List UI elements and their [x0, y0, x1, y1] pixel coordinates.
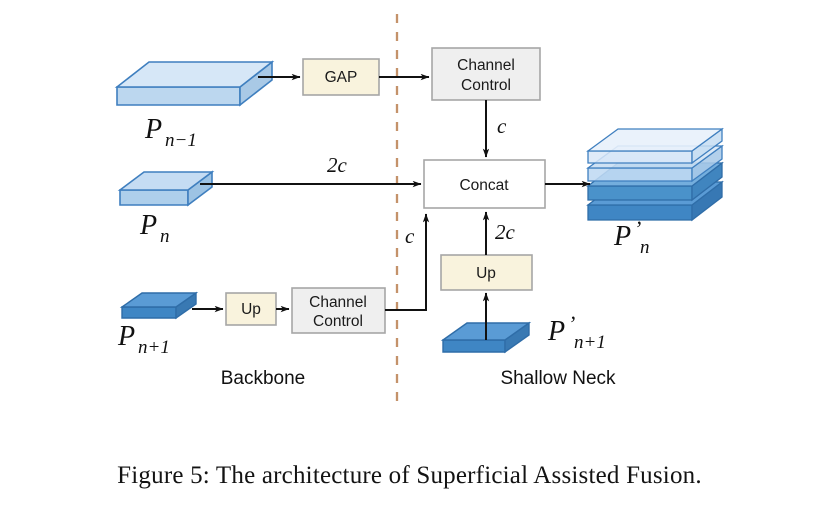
svg-text:n−1: n−1 — [165, 130, 197, 151]
svg-text:Control: Control — [313, 313, 363, 330]
svg-text:P: P — [547, 316, 565, 347]
edge-label-2c-up: 2c — [495, 220, 516, 244]
block-channel-control-bottom[interactable]: Channel Control — [292, 288, 385, 333]
feature-map-p-n-minus-1 — [117, 62, 272, 105]
svg-text:Channel: Channel — [309, 294, 367, 311]
architecture-diagram: P n−1 P n P n+1 GAP — [0, 0, 819, 514]
edge-label-2c-pn: 2c — [327, 153, 348, 177]
svg-text:P: P — [144, 114, 162, 145]
feature-map-p-prime-n-plus-1-label: P ’ n+1 — [547, 311, 606, 353]
svg-text:n+1: n+1 — [138, 337, 170, 358]
feature-map-p-n-label: P n — [139, 210, 170, 247]
block-gap[interactable]: GAP — [303, 59, 379, 95]
figure-caption: Figure 5: The architecture of Superficia… — [117, 462, 702, 489]
feature-map-p-n-minus-1-label: P n−1 — [144, 114, 197, 151]
svg-text:P: P — [117, 321, 135, 352]
block-up-backbone[interactable]: Up — [226, 293, 276, 325]
feature-map-p-n-plus-1-label: P n+1 — [117, 321, 170, 358]
feature-map-p-n — [120, 172, 212, 205]
svg-text:P: P — [613, 221, 631, 252]
svg-text:Concat: Concat — [459, 177, 509, 194]
svg-text:n: n — [640, 237, 650, 258]
block-channel-control-top[interactable]: Channel Control — [432, 48, 540, 100]
svg-text:n+1: n+1 — [574, 332, 606, 353]
svg-text:n: n — [160, 226, 170, 247]
edge-label-c-bottom: c — [405, 224, 415, 248]
section-label-shallow-neck: Shallow Neck — [500, 368, 616, 389]
svg-text:Up: Up — [476, 265, 496, 282]
feature-map-p-prime-n-label: P ’ n — [613, 216, 650, 258]
svg-text:Up: Up — [241, 301, 261, 318]
svg-text:P: P — [139, 210, 157, 241]
block-up-neck[interactable]: Up — [441, 255, 532, 290]
section-label-backbone: Backbone — [221, 368, 306, 389]
svg-text:GAP: GAP — [325, 69, 358, 86]
feature-map-p-n-plus-1 — [122, 293, 196, 318]
block-concat[interactable]: Concat — [424, 160, 545, 208]
edge-label-c-top: c — [497, 114, 507, 138]
feature-map-p-prime-n-stack — [588, 129, 722, 220]
figure-container: P n−1 P n P n+1 GAP — [0, 0, 819, 514]
figure-caption-wrap: Figure 5: The architecture of Superficia… — [0, 462, 819, 490]
svg-text:Channel: Channel — [457, 57, 515, 74]
svg-text:Control: Control — [461, 77, 511, 94]
